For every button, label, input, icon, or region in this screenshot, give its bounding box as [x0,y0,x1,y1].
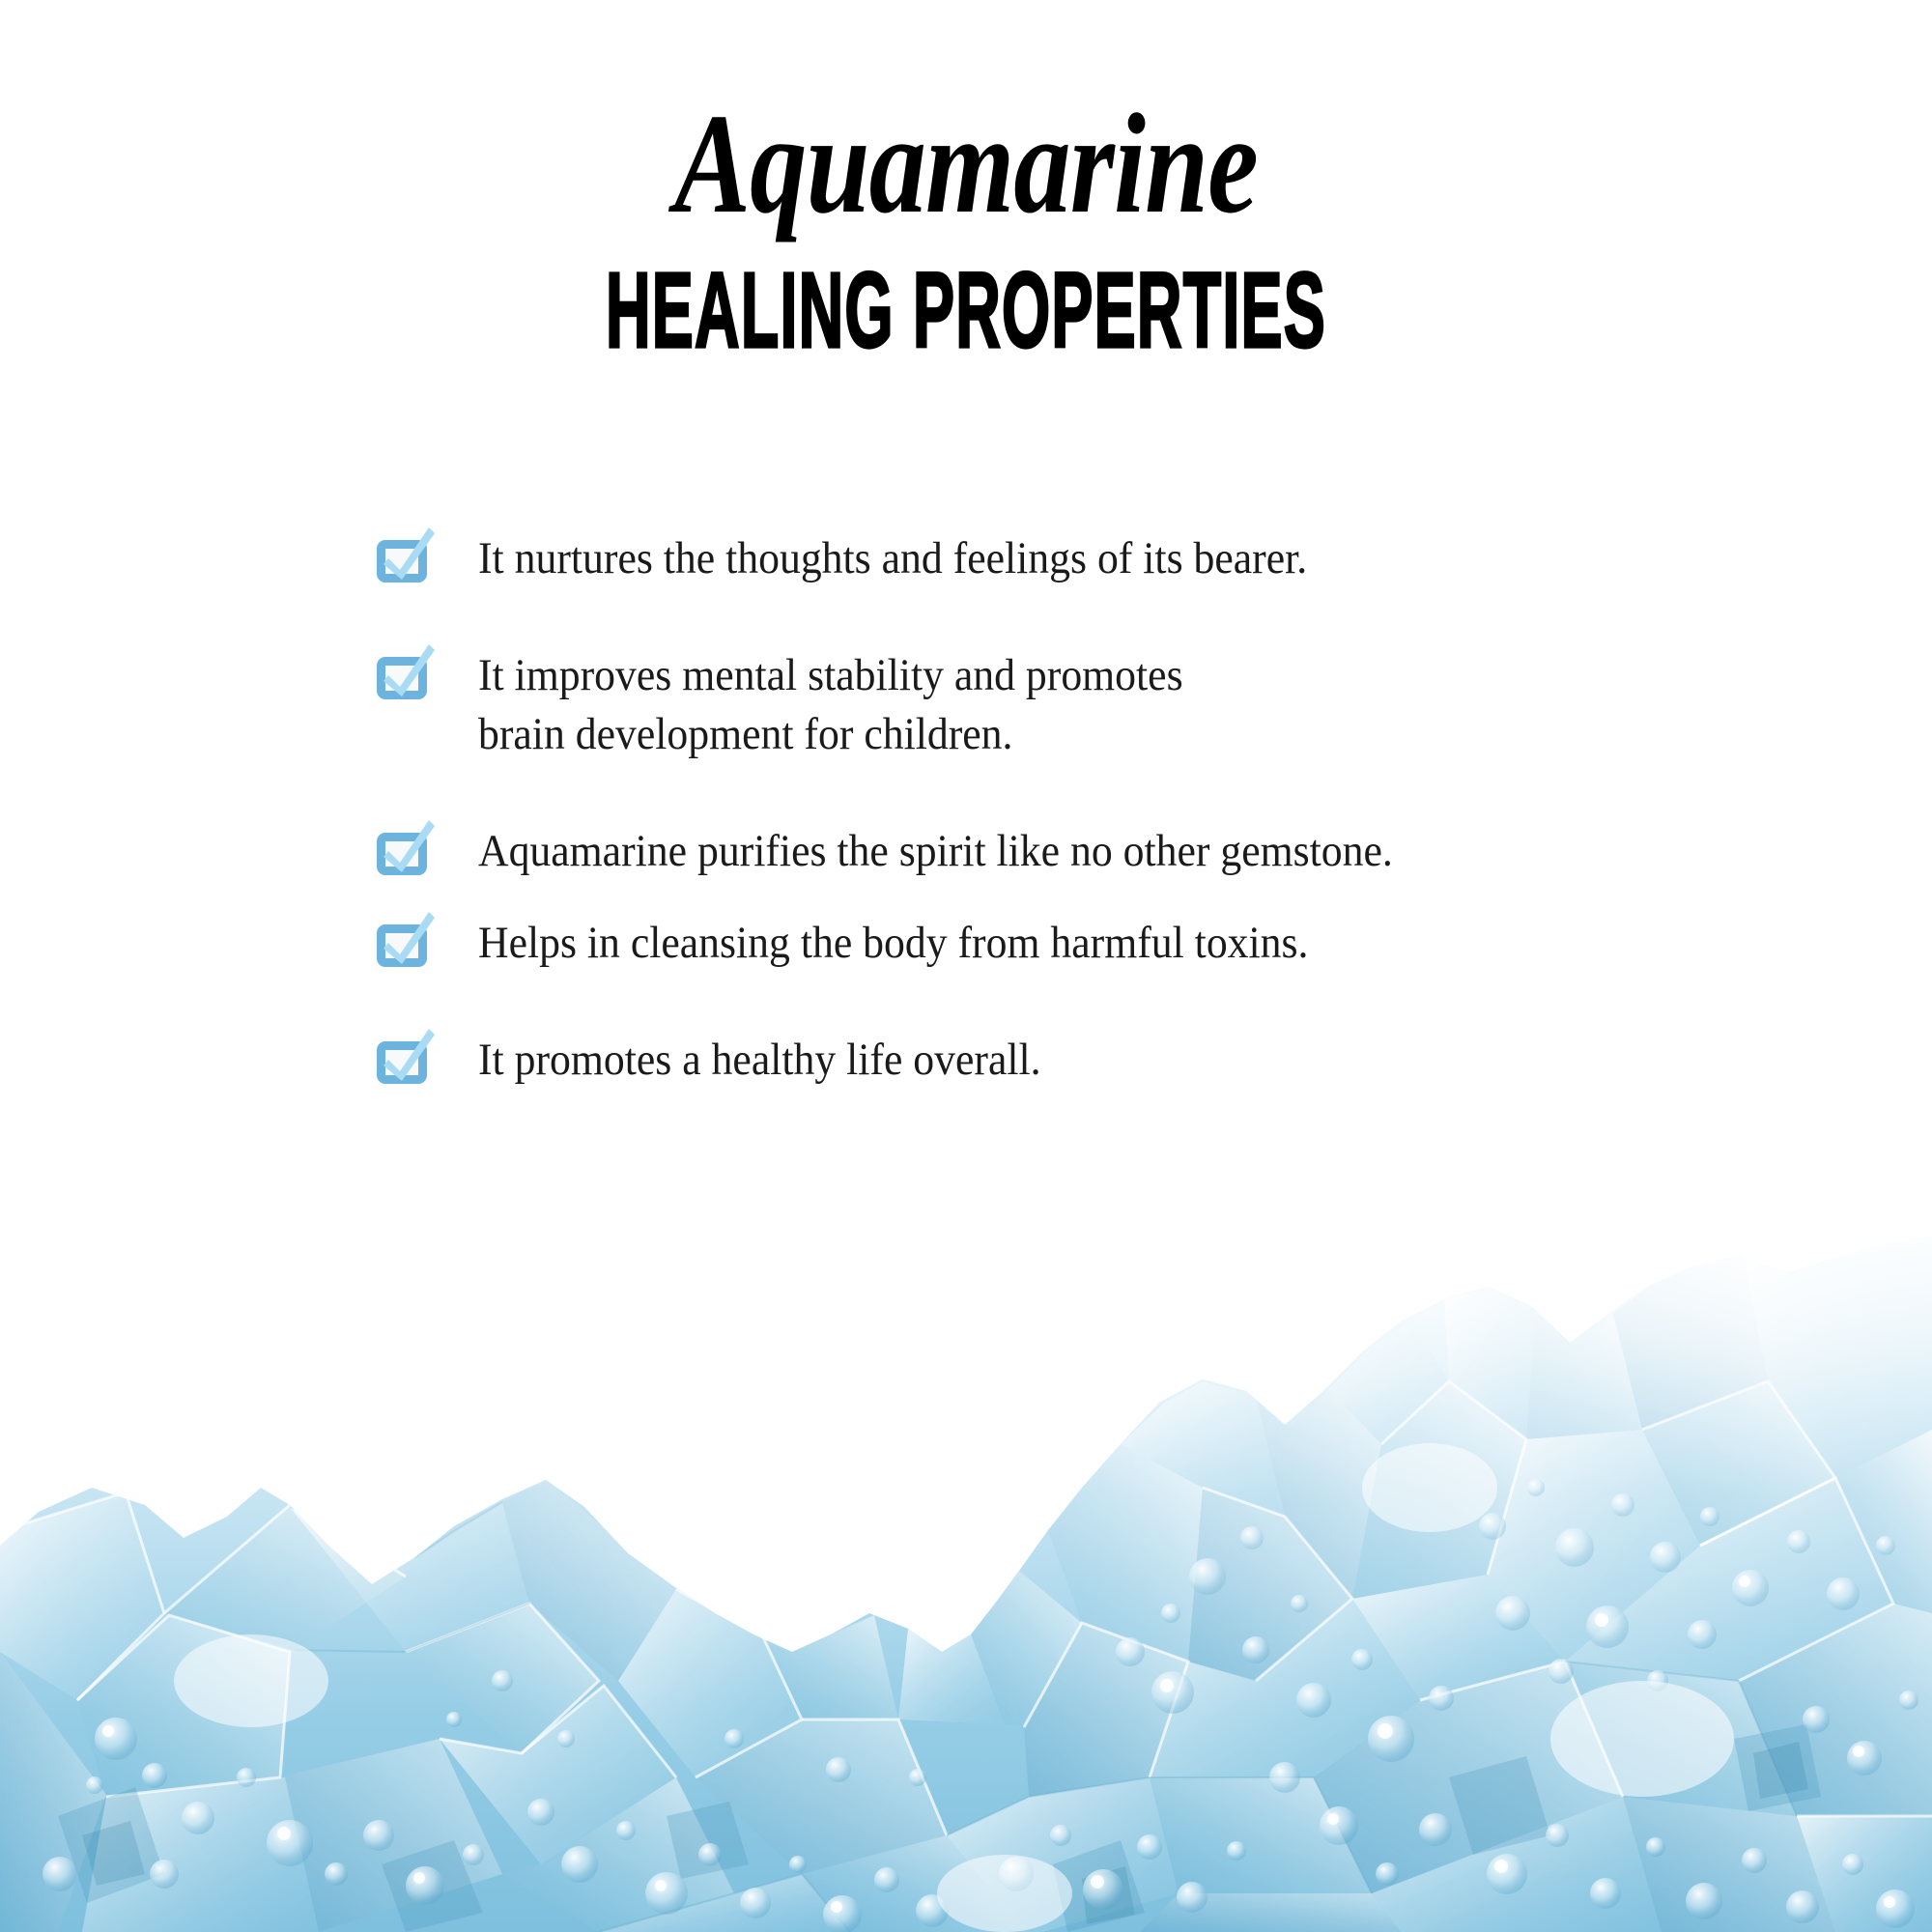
checkmark-icon [381,642,435,698]
list-item-label: Aquamarine purifies the spirit like no o… [478,822,1393,881]
list-item-label: It nurtures the thoughts and feelings of… [478,529,1307,588]
list-item: It nurtures the thoughts and feelings of… [377,529,1729,588]
list-item-label: It improves mental stability and promote… [478,646,1183,764]
checked-checkbox-icon [377,537,427,582]
list-item: It improves mental stability and promote… [377,646,1729,764]
checkmark-icon [381,526,435,582]
checked-checkbox-icon [377,922,427,966]
poster-header: Aquamarine HEALING PROPERTIES [0,0,1932,361]
checkmark-icon [381,1027,435,1083]
list-item: Aquamarine purifies the spirit like no o… [377,822,1729,881]
list-item-label: Helps in cleansing the body from harmful… [478,914,1308,973]
page-title-script: Aquamarine [193,93,1739,236]
checked-checkbox-icon [377,654,427,698]
ice-cubes-photo [0,1198,1932,1932]
checkmark-icon [381,818,435,874]
list-item-label: It promotes a healthy life overall. [478,1031,1041,1090]
poster-canvas: Aquamarine HEALING PROPERTIES It nurture… [0,0,1932,1932]
healing-properties-list: It nurtures the thoughts and feelings of… [377,529,1729,1149]
list-item: It promotes a healthy life overall. [377,1031,1729,1090]
checkmark-icon [381,910,435,966]
checked-checkbox-icon [377,1038,427,1083]
list-item: Helps in cleansing the body from harmful… [377,914,1729,973]
checked-checkbox-icon [377,830,427,874]
page-title-subheading: HEALING PROPERTIES [367,258,1565,364]
